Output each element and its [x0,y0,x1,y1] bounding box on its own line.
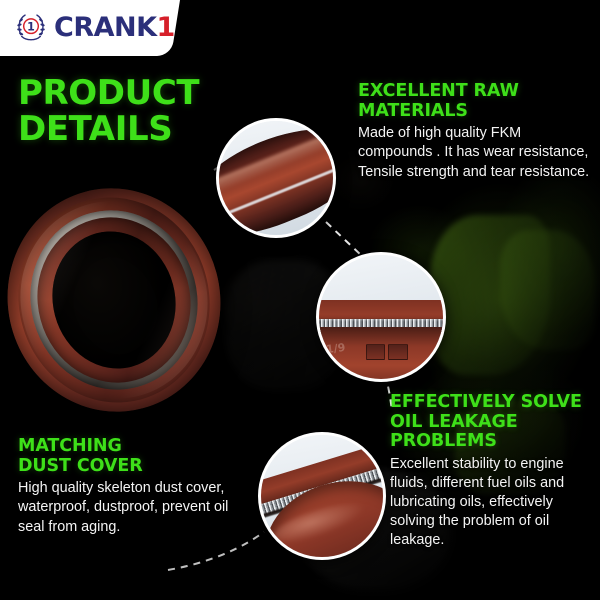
seal-notch-2 [388,344,407,360]
emblem-number: 1 [27,21,35,34]
page-title-line2: DETAILS [18,112,248,148]
feature-heading-line1: EXCELLENT RAW [358,81,519,101]
feature-heading-line1: EFFECTIVELY SOLVE [390,392,582,412]
feature-heading: MATCHING DUST COVER [18,437,238,476]
bike-fairing-shape-2 [500,230,595,350]
feature-excellent-raw-materials: EXCELLENT RAW MATERIALS Made of high qua… [358,82,594,182]
feature-body: High quality skeleton dust cover, waterp… [18,479,238,536]
feature-body: Excellent stability to engine fluids, di… [390,455,590,551]
feature-effectively-solve-oil-leakage: EFFECTIVELY SOLVE OIL LEAKAGE PROBLEMS E… [390,393,590,551]
feature-matching-dust-cover: MATCHING DUST COVER High quality skeleto… [18,437,238,537]
callout-dust-cover-closeup [258,432,386,560]
feature-heading-line3: PROBLEMS [390,431,497,451]
brand-name-one: 1 [157,12,175,43]
product-details-infographic: 1/9 [0,0,600,600]
brand-logo[interactable]: 1 CRANK1 [14,9,175,45]
brand-name-crank: CRANK [54,12,157,43]
feature-heading: EXCELLENT RAW MATERIALS [358,82,594,121]
callout-spring-coil-closeup: 1/9 [316,252,446,382]
seal-embossed-text: 1/9 [326,341,347,356]
feature-body: Made of high quality FKM compounds . It … [358,124,594,181]
feature-heading-line1: MATCHING [18,436,122,456]
feature-heading-line2: DUST COVER [18,456,143,476]
bike-fairing-shape [430,215,550,375]
page-title: PRODUCT DETAILS [18,76,248,147]
feature-heading-line2: OIL LEAKAGE [390,412,518,432]
feature-heading: EFFECTIVELY SOLVE OIL LEAKAGE PROBLEMS [390,393,590,452]
laurel-wreath-icon: 1 [14,10,48,44]
page-title-line1: PRODUCT [18,73,199,113]
brand-wordmark: CRANK1 [54,14,175,41]
dust-cover-tilt-group [258,432,386,560]
seal-notch-1 [366,344,385,360]
feature-heading-line2: MATERIALS [358,101,468,121]
